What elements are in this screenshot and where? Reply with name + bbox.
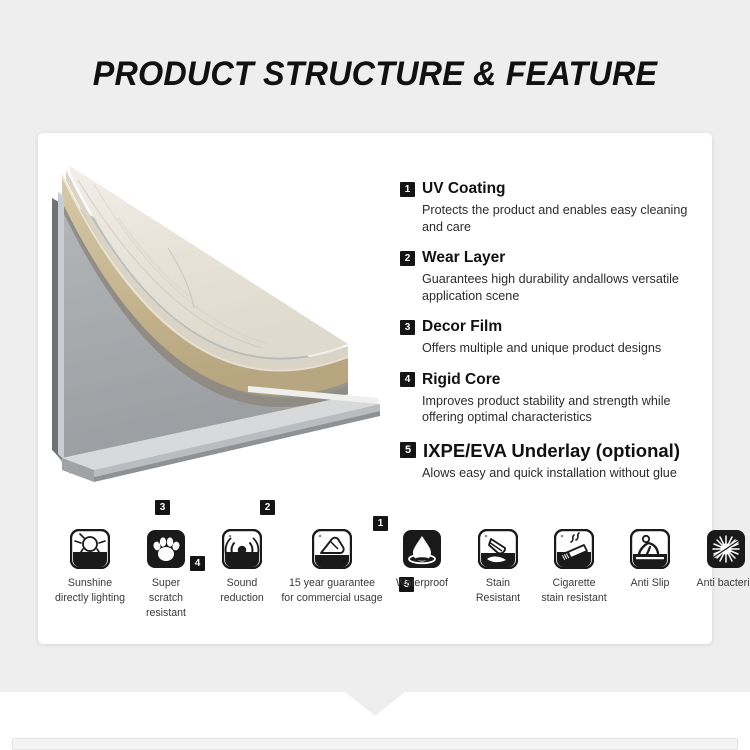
shoe-guarantee-icon (312, 529, 352, 569)
feature-description: Protects the product and enables easy cl… (422, 202, 700, 235)
benefit-guarantee: 15 year guarantee for commercial usage (280, 529, 384, 606)
benefit-label: Cigarette stain resistant (536, 576, 612, 606)
benefit-sound-reduction: Sound reduction (204, 529, 280, 606)
stain-spill-icon (478, 529, 518, 569)
anti-bacteria-icon (706, 529, 746, 569)
benefit-stain-resistant: Stain Resistant (460, 529, 536, 606)
content-card: 1 2 3 4 5 1 UV Coating Protects the prod… (38, 133, 712, 644)
bottom-strip (12, 738, 738, 750)
feature-item-uv-coating: 1 UV Coating Protects the product and en… (400, 180, 700, 235)
feature-item-underlay: 5 IXPE/EVA Underlay (optional) Alows eas… (400, 440, 700, 482)
benefit-label: Sound reduction (204, 576, 280, 606)
feature-item-decor-film: 3 Decor Film Offers multiple and unique … (400, 318, 700, 357)
infographic-page: PRODUCT STRUCTURE & FEATURE (0, 0, 750, 750)
benefit-label: 15 year guarantee for commercial usage (280, 576, 384, 606)
feature-item-wear-layer: 2 Wear Layer Guarantees high durability … (400, 249, 700, 304)
benefit-label: Anti bacteria (688, 576, 750, 591)
feature-heading: 1 UV Coating (400, 180, 700, 198)
benefit-label: Sunshine directly lighting (52, 576, 128, 606)
benefit-label: Anti Slip (612, 576, 688, 591)
feature-description: Guarantees high durability andallows ver… (422, 271, 700, 304)
feature-number-badge: 2 (400, 251, 415, 266)
cigarette-icon (554, 529, 594, 569)
plank-diagram: 1 2 3 4 5 (48, 158, 388, 503)
plank-diagram-svg (48, 158, 388, 503)
benefit-sunshine: Sunshine directly lighting (52, 529, 128, 606)
slab-left-highlight (58, 192, 64, 460)
page-title: PRODUCT STRUCTURE & FEATURE (19, 52, 732, 96)
feature-title: Rigid Core (422, 371, 500, 389)
band-arrow-notch (345, 692, 405, 716)
feature-number-badge: 4 (400, 372, 415, 387)
water-drop-icon (402, 529, 442, 569)
feature-description: Improves product stability and strength … (422, 393, 700, 426)
benefit-label: Super scratch resistant (128, 576, 204, 621)
diagram-marker-3: 3 (155, 500, 170, 515)
sunshine-icon (70, 529, 110, 569)
benefit-waterproof: Waterproof (384, 529, 460, 591)
feature-description: Alows easy and quick installation withou… (422, 465, 700, 482)
feature-heading: 4 Rigid Core (400, 371, 700, 389)
feature-number-badge: 1 (400, 182, 415, 197)
feature-title: UV Coating (422, 180, 506, 198)
benefit-icon-strip: Sunshine directly lighting Super scratch… (52, 529, 698, 621)
feature-list: 1 UV Coating Protects the product and en… (400, 180, 700, 481)
feature-description: Offers multiple and unique product desig… (422, 340, 700, 357)
feature-heading: 2 Wear Layer (400, 249, 700, 267)
benefit-anti-slip: Anti Slip (612, 529, 688, 591)
feature-heading: 3 Decor Film (400, 318, 700, 336)
paw-print-icon (146, 529, 186, 569)
feature-title: IXPE/EVA Underlay (optional) (423, 440, 680, 461)
feature-number-badge: 3 (400, 320, 415, 335)
feature-heading: 5 IXPE/EVA Underlay (optional) (400, 440, 700, 461)
feature-number-badge: 5 (400, 442, 416, 458)
benefit-label: Waterproof (384, 576, 460, 591)
feature-title: Decor Film (422, 318, 502, 336)
feature-item-rigid-core: 4 Rigid Core Improves product stability … (400, 371, 700, 426)
benefit-scratch-resistant: Super scratch resistant (128, 529, 204, 621)
sound-waves-icon (222, 529, 262, 569)
anti-slip-icon (630, 529, 670, 569)
benefit-cigarette-resistant: Cigarette stain resistant (536, 529, 612, 606)
diagram-marker-2: 2 (260, 500, 275, 515)
benefit-anti-bacteria: Anti bacteria (688, 529, 750, 591)
feature-title: Wear Layer (422, 249, 505, 267)
benefit-label: Stain Resistant (460, 576, 536, 606)
